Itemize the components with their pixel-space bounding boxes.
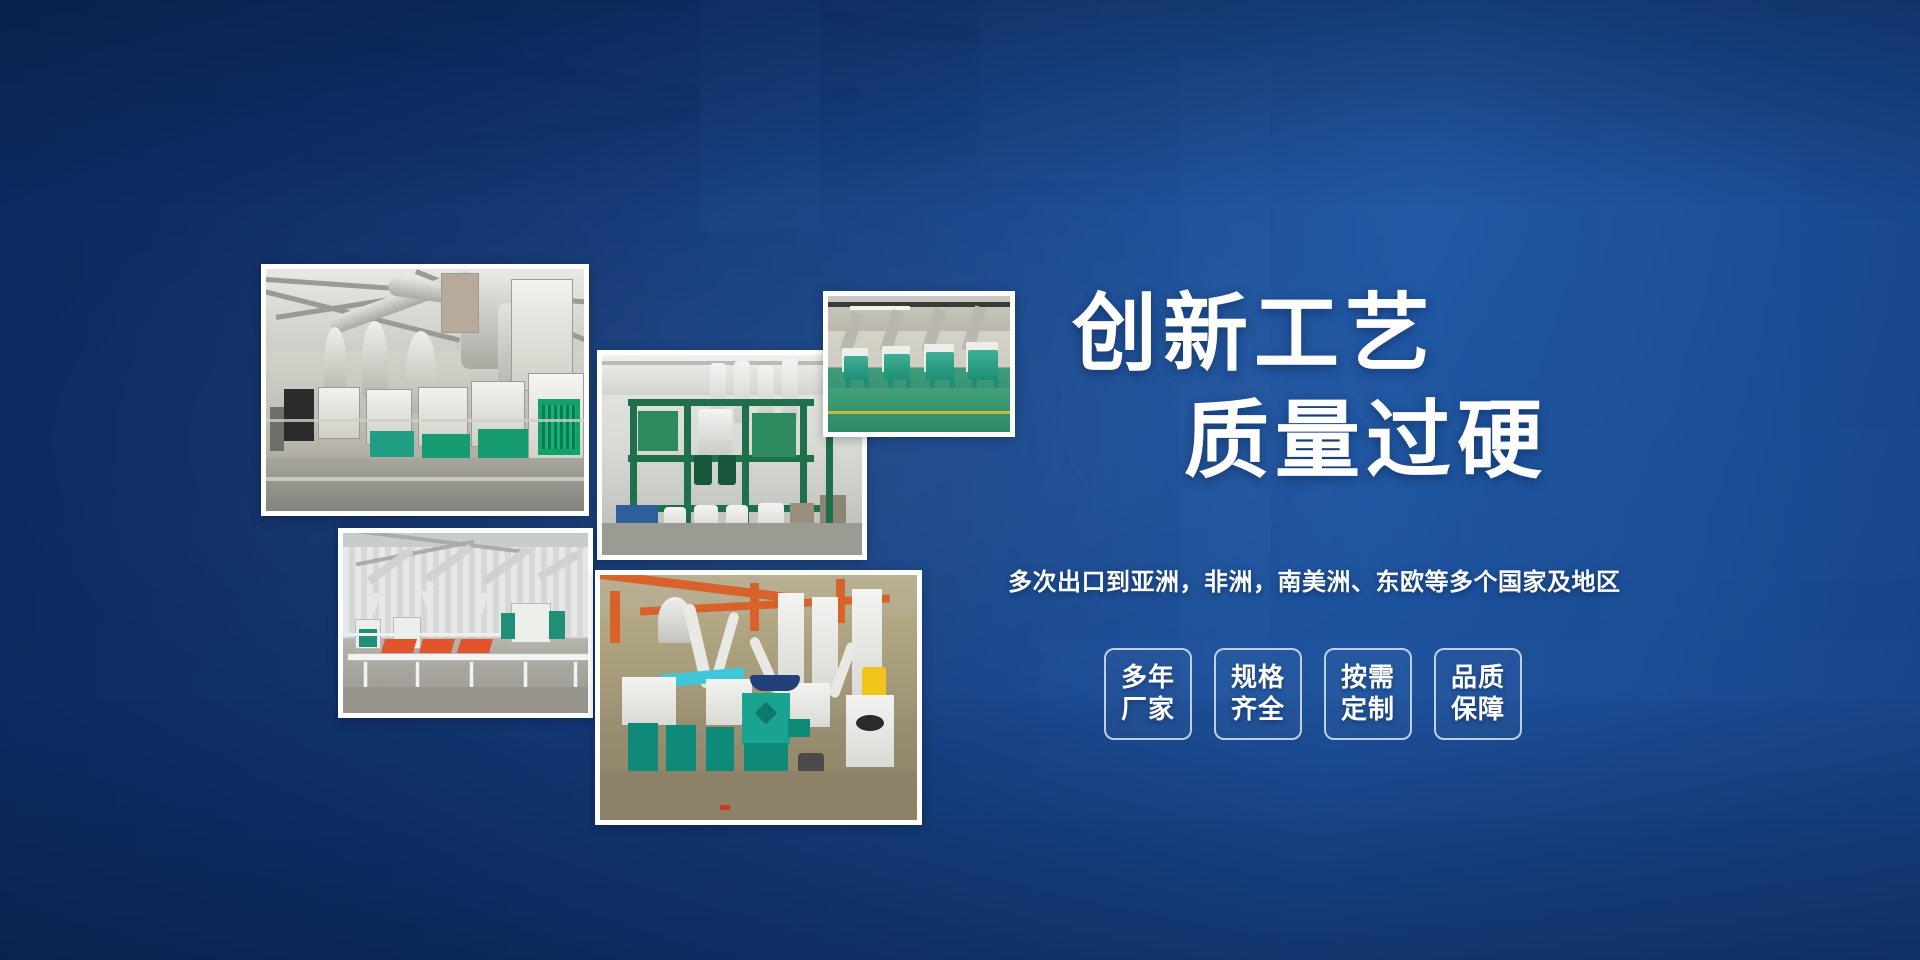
- badge-line-top: 多年: [1121, 662, 1175, 694]
- badge-years-manufacturer[interactable]: 多年 厂家: [1104, 648, 1192, 740]
- headline-line-2: 质量过硬: [1000, 399, 1680, 484]
- headline: 创新工艺 质量过硬: [1000, 292, 1680, 484]
- product-photo-collage: [0, 0, 1000, 960]
- badge-line-top: 按需: [1341, 662, 1395, 694]
- badge-line-top: 品质: [1451, 662, 1505, 694]
- subtitle: 多次出口到亚洲，非洲，南美洲、东欧等多个国家及地区: [1000, 562, 1720, 597]
- badge-custom-on-demand[interactable]: 按需 定制: [1324, 648, 1412, 740]
- photo-teal-mill-row[interactable]: [595, 570, 922, 825]
- photo-flour-mill-line[interactable]: [261, 264, 589, 516]
- badge-line-bottom: 定制: [1341, 694, 1395, 726]
- feature-badge-list: 多年 厂家 规格 齐全 按需 定制 品质 保障: [1104, 648, 1522, 740]
- promo-banner: 创新工艺 质量过硬 多次出口到亚洲，非洲，南美洲、东欧等多个国家及地区 多年 厂…: [0, 0, 1920, 960]
- photo-white-platform-line[interactable]: [338, 528, 593, 718]
- badge-line-bottom: 厂家: [1121, 694, 1175, 726]
- badge-line-bottom: 齐全: [1231, 694, 1285, 726]
- copy-block: 创新工艺 质量过硬 多次出口到亚洲，非洲，南美洲、东欧等多个国家及地区 多年 厂…: [1000, 0, 1920, 960]
- badge-full-specifications[interactable]: 规格 齐全: [1214, 648, 1302, 740]
- headline-line-1: 创新工艺: [1000, 292, 1680, 377]
- badge-quality-guarantee[interactable]: 品质 保障: [1434, 648, 1522, 740]
- badge-line-top: 规格: [1231, 662, 1285, 694]
- photo-teal-mills-green-floor[interactable]: [823, 291, 1015, 437]
- badge-line-bottom: 保障: [1451, 694, 1505, 726]
